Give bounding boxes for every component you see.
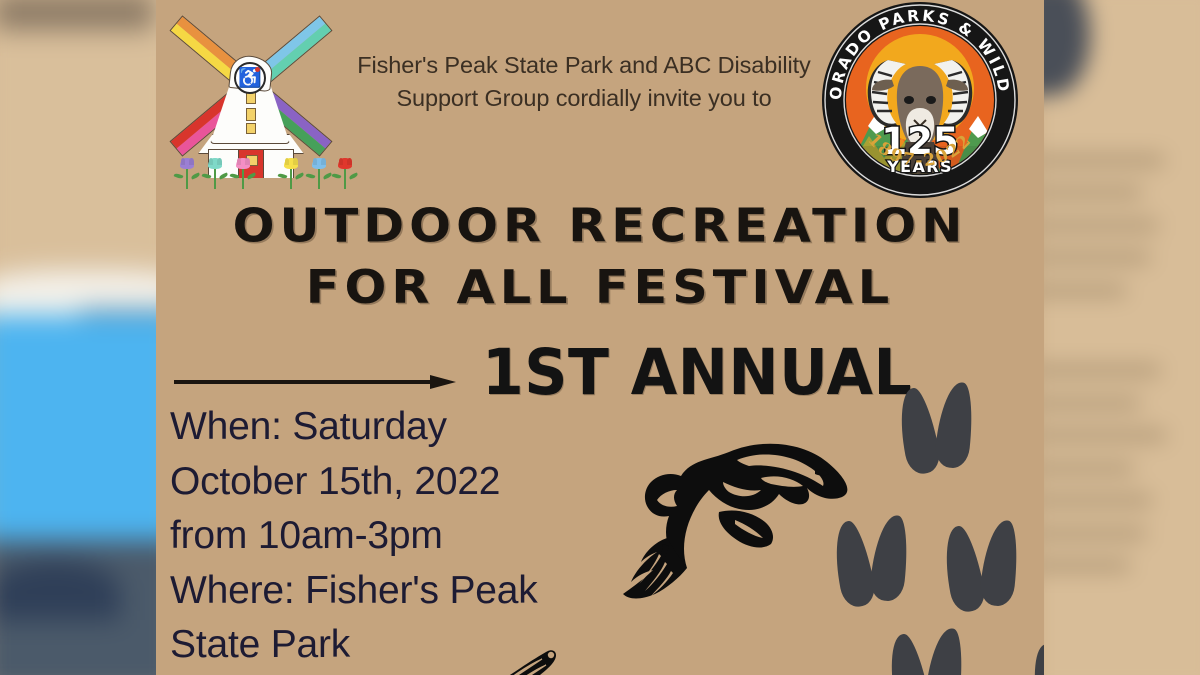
- tulip-icon: [208, 158, 222, 189]
- partial-fish-fin-icon: [456, 645, 566, 675]
- festival-poster: ♿: [156, 0, 1044, 675]
- tulip-row: [174, 144, 350, 188]
- tulip-icon: [284, 158, 298, 189]
- detail-line: Where: Fisher's Peak: [170, 564, 600, 619]
- invitation-header-text: Fisher's Peak State Park and ABC Disabil…: [334, 49, 834, 115]
- accessible-windmill-logo: ♿: [168, 0, 348, 194]
- title-line-1: OUTDOOR RECREATION: [156, 196, 1044, 257]
- screenshot-canvas: ♿: [0, 0, 1200, 675]
- page-title: OUTDOOR RECREATION FOR ALL FESTIVAL: [156, 196, 1044, 319]
- tulip-icon: [312, 158, 326, 189]
- event-details: When: Saturday October 15th, 2022 from 1…: [170, 400, 600, 673]
- colorado-parks-and-wildlife-logo: 125 YEARS COLORADO PARKS & WILDLIFE 1897…: [814, 0, 1026, 201]
- windmill-window: [246, 123, 256, 134]
- leaping-trout-icon: [611, 430, 871, 630]
- detail-line: October 15th, 2022: [170, 455, 600, 510]
- tulip-icon: [236, 158, 250, 189]
- windmill-window: [246, 108, 256, 121]
- first-annual-callout: 1ST ANNUAL: [482, 341, 912, 405]
- detail-line: When: Saturday: [170, 400, 600, 455]
- title-line-2: FOR ALL FESTIVAL: [156, 257, 1044, 318]
- wheelchair-accessibility-icon: ♿: [234, 62, 266, 94]
- right-arrow-icon: [174, 375, 464, 389]
- detail-line: from 10am-3pm: [170, 509, 600, 564]
- tulip-icon: [338, 158, 352, 189]
- blurred-background-left: [0, 0, 180, 675]
- blurred-background-right: [1020, 0, 1200, 675]
- tulip-icon: [180, 158, 194, 189]
